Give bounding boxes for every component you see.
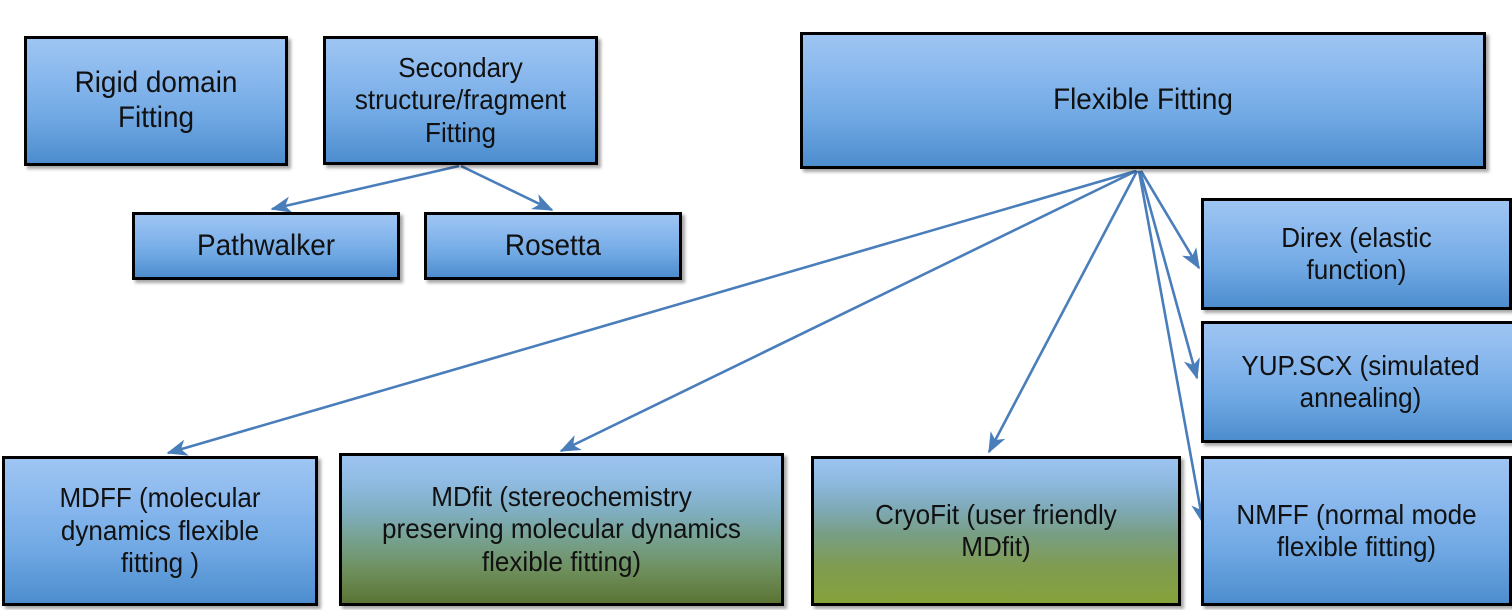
node-nmff-label: NMFF (normal mode flexible fitting) [1220,499,1492,564]
node-yup-scx-label: YUP.SCX (simulated annealing) [1221,350,1501,415]
node-pathwalker[interactable]: Pathwalker [132,212,400,280]
node-flexible-fitting[interactable]: Flexible Fitting [800,32,1486,169]
edge-secondary-to-rosetta [461,166,552,210]
edge-flexible-to-yupscx [1140,171,1197,378]
node-mdff-label: MDFF (molecular dynamics flexible fittin… [21,482,298,579]
node-secondary-structure-fragment-fitting[interactable]: Secondary structure/fragment Fitting [323,36,598,165]
node-cryofit-label: CryoFit (user friendly MDfit) [832,499,1159,564]
node-mdfit-label: MDfit (stereochemistry preserving molecu… [363,481,760,578]
node-yup-scx[interactable]: YUP.SCX (simulated annealing) [1201,321,1512,443]
node-rosetta-label: Rosetta [441,229,664,264]
node-mdff[interactable]: MDFF (molecular dynamics flexible fittin… [2,456,318,606]
node-nmff[interactable]: NMFF (normal mode flexible fitting) [1201,456,1512,606]
diagram-canvas: Rigid domain Fitting Secondary structure… [0,0,1512,610]
edge-secondary-to-pathwalker [272,166,459,209]
node-direx[interactable]: Direx (elastic function) [1201,198,1512,310]
node-pathwalker-label: Pathwalker [150,229,383,264]
edge-flexible-to-cryofit [989,171,1137,452]
node-mdfit[interactable]: MDfit (stereochemistry preserving molecu… [339,453,784,606]
node-rigid-domain-fitting-label: Rigid domain Fitting [42,66,271,136]
node-rosetta[interactable]: Rosetta [424,212,682,280]
node-direx-label: Direx (elastic function) [1220,222,1492,287]
node-cryofit[interactable]: CryoFit (user friendly MDfit) [811,456,1181,606]
node-rigid-domain-fitting[interactable]: Rigid domain Fitting [24,36,288,166]
node-flexible-fitting-label: Flexible Fitting [832,83,1453,118]
node-secondary-structure-fragment-fitting-label: Secondary structure/fragment Fitting [341,52,580,149]
edge-flexible-to-direx [1141,171,1199,268]
